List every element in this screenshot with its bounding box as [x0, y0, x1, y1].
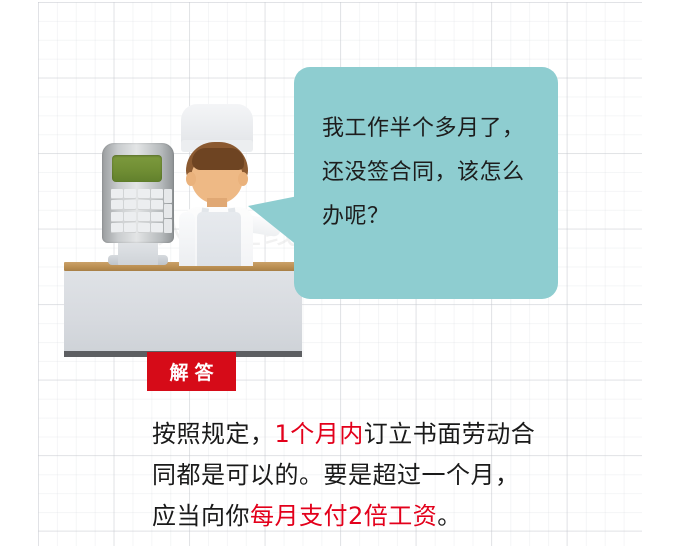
answer-line-1-part-a: 按照规定，	[152, 420, 275, 448]
answer-body-text: 按照规定，1个月内订立书面劳动合 同都是可以的。要是超过一个月， 应当向你每月支…	[152, 414, 572, 537]
chef-left-ear	[186, 172, 196, 186]
chef-hair-fringe	[192, 148, 244, 170]
register-keypad	[111, 189, 163, 233]
answer-line-3-part-a: 应当向你	[152, 502, 250, 530]
speech-bubble: 我工作半个多月了， 还没签合同，该怎么 办呢？	[294, 67, 558, 299]
speech-bubble-tail-icon	[248, 196, 298, 246]
speech-bubble-line-3: 办呢？	[322, 195, 538, 239]
register-display-screen	[112, 155, 162, 182]
chef-apron	[197, 212, 241, 266]
register-key	[138, 200, 150, 210]
register-key	[124, 212, 136, 222]
counter-body	[64, 271, 302, 351]
register-key	[111, 212, 123, 222]
register-key	[138, 189, 150, 199]
register-key	[151, 200, 163, 210]
register-key	[111, 223, 123, 233]
speech-bubble-line-1: 我工作半个多月了，	[322, 107, 538, 151]
register-key	[124, 223, 136, 233]
speech-bubble-line-2: 还没签合同，该怎么	[322, 151, 538, 195]
chef-left-arm	[179, 212, 195, 266]
register-key	[111, 200, 123, 210]
answer-badge: 解答	[147, 352, 236, 391]
answer-highlight-double-wage: 每月支付2倍工资	[250, 502, 437, 530]
chef-right-ear	[238, 172, 248, 186]
answer-badge-label: 解答	[163, 358, 219, 385]
register-key	[138, 212, 150, 222]
speech-bubble-text: 我工作半个多月了， 还没签合同，该怎么 办呢？	[322, 107, 538, 239]
answer-line-3-part-b: 。	[437, 502, 462, 530]
answer-line-1: 按照规定，1个月内订立书面劳动合	[152, 414, 572, 455]
register-key	[151, 189, 163, 199]
answer-highlight-one-month: 1个月内	[275, 420, 364, 448]
service-counter	[64, 262, 302, 360]
illustration-canvas: 人社在线	[0, 0, 679, 546]
answer-line-1-part-b: 订立书面劳动合	[364, 420, 536, 448]
answer-line-3: 应当向你每月支付2倍工资。	[152, 496, 572, 537]
register-key	[124, 200, 136, 210]
register-key	[151, 212, 163, 222]
register-key	[124, 189, 136, 199]
answer-line-2: 同都是可以的。要是超过一个月，	[152, 455, 572, 496]
register-key	[111, 189, 123, 199]
register-key	[138, 223, 150, 233]
register-key	[151, 223, 163, 233]
